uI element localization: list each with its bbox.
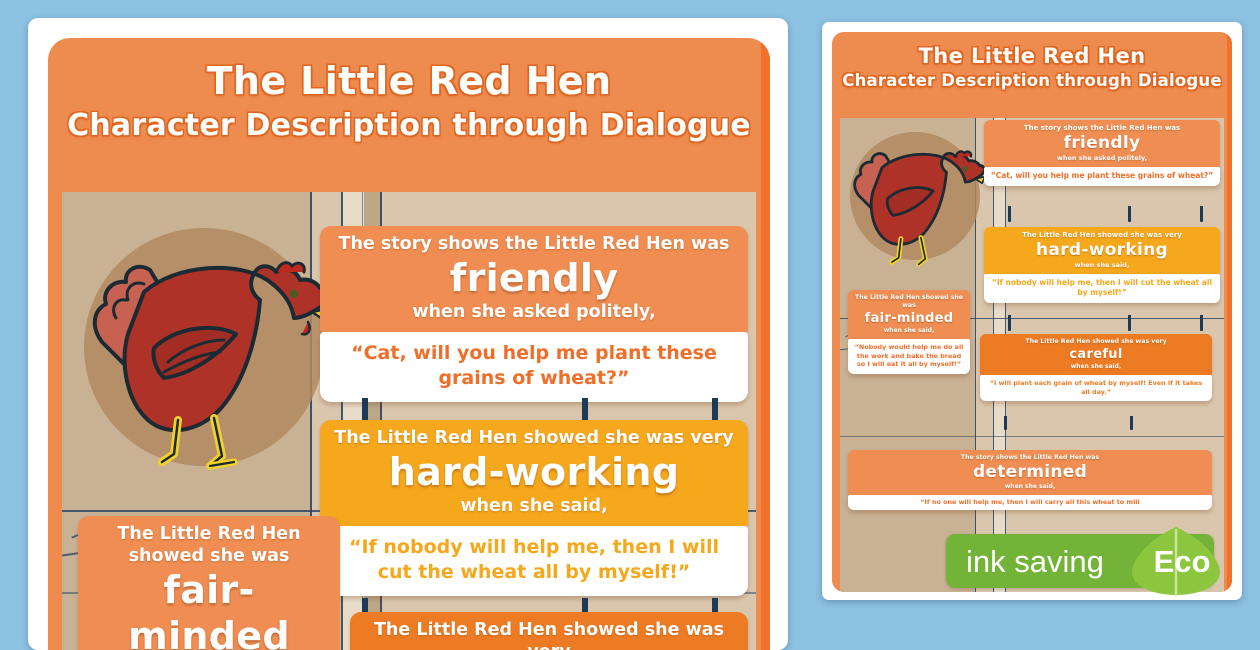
trait-when: when she said, <box>330 495 738 518</box>
trait-lead: The story shows the Little Red Hen was <box>989 124 1215 133</box>
trait-card-head: The Little Red Hen showed she was very c… <box>980 334 1212 375</box>
thumb-trait-card-determined[interactable]: The story shows the Little Red Hen was d… <box>848 450 1212 510</box>
thumbnail-poster-sheet[interactable]: The Little Red Hen Character Description… <box>822 22 1242 600</box>
trait-when: when she asked politely, <box>989 154 1215 163</box>
trait-word: determined <box>853 462 1207 483</box>
sign-post <box>1004 416 1007 430</box>
eco-word: Eco <box>1146 546 1218 578</box>
poster-title-block: The Little Red Hen Character Description… <box>48 38 770 146</box>
thumb-trait-card-careful[interactable]: The Little Red Hen showed she was very c… <box>980 334 1212 401</box>
little-red-hen-illustration <box>842 128 992 274</box>
trait-quote: “Cat, will you help me plant these grain… <box>984 167 1220 186</box>
trait-card-friendly[interactable]: The story shows the Little Red Hen was f… <box>320 226 748 402</box>
screenshot-stage: The Little Red Hen Character Description… <box>0 0 1260 630</box>
eco-label: ink saving <box>966 546 1166 578</box>
trait-card-head: The Little Red Hen showed she was very h… <box>320 420 748 526</box>
trait-when: when she asked politely, <box>330 301 738 324</box>
sign-post <box>1200 315 1203 331</box>
thumb-right-edge <box>1227 32 1232 592</box>
thumbnail-poster: The Little Red Hen Character Description… <box>832 32 1232 592</box>
trait-word: hard-working <box>330 449 738 495</box>
poster-title-line2: Character Description through Dialogue <box>48 104 770 146</box>
trait-card-head: The story shows the Little Red Hen was f… <box>984 120 1220 167</box>
floor-line <box>840 436 1224 437</box>
trait-lead: The Little Red Hen showed she was <box>853 294 965 310</box>
trait-when: when she said, <box>985 363 1207 371</box>
little-red-hen-illustration <box>72 222 342 482</box>
trait-when: when she said, <box>853 483 1207 491</box>
trait-lead: The Little Red Hen showed she was <box>88 523 330 567</box>
trait-quote: “If no one will help me, then I will car… <box>848 495 1212 510</box>
trait-lead: The story shows the Little Red Hen was <box>853 454 1207 462</box>
thumb-trait-card-friendly[interactable]: The story shows the Little Red Hen was f… <box>984 120 1220 186</box>
trait-card-head: The story shows the Little Red Hen was f… <box>320 226 748 332</box>
trait-word: fair-minded <box>853 310 965 327</box>
thumb-title-line1: The Little Red Hen <box>832 32 1232 69</box>
trait-word: friendly <box>330 255 738 301</box>
sign-post <box>1130 416 1133 430</box>
trait-lead: The Little Red Hen showed she was very <box>989 231 1215 240</box>
trait-quote: “Nobody would help me do all the work an… <box>848 339 970 374</box>
ink-saving-eco-badge: ink saving Eco <box>946 526 1234 596</box>
trait-quote: “I will plant each grain of wheat by mys… <box>980 375 1212 401</box>
trait-when: when she said, <box>853 327 965 335</box>
trait-card-head: The Little Red Hen showed she was very c… <box>350 612 748 650</box>
poster-title-line1: The Little Red Hen <box>48 38 770 104</box>
sign-post <box>1128 315 1131 331</box>
sign-post <box>1008 315 1011 331</box>
main-poster-sheet: The Little Red Hen Character Description… <box>28 18 788 650</box>
trait-word: careful <box>985 346 1207 363</box>
trait-card-head: The Little Red Hen showed she was fair-m… <box>848 290 970 339</box>
trait-card-head: The story shows the Little Red Hen was d… <box>848 450 1212 495</box>
poster-right-edge <box>761 38 770 650</box>
trait-card-head: The Little Red Hen showed she was very h… <box>984 227 1220 274</box>
main-poster: The Little Red Hen Character Description… <box>48 38 770 650</box>
trait-lead: The story shows the Little Red Hen was <box>330 233 738 255</box>
trait-quote: “If nobody will help me, then I will cut… <box>320 526 748 596</box>
trait-card-careful[interactable]: The Little Red Hen showed she was very c… <box>350 612 748 650</box>
trait-word: friendly <box>989 133 1215 154</box>
thumb-trait-card-fair-minded[interactable]: The Little Red Hen showed she was fair-m… <box>848 290 970 374</box>
trait-quote: “Cat, will you help me plant these grain… <box>320 332 748 402</box>
sign-post <box>1200 206 1203 222</box>
thumb-title-block: The Little Red Hen Character Description… <box>832 32 1232 92</box>
thumb-trait-card-hard-working[interactable]: The Little Red Hen showed she was very h… <box>984 227 1220 303</box>
trait-word: fair-minded <box>88 567 330 650</box>
trait-when: when she said, <box>989 261 1215 270</box>
trait-word: hard-working <box>989 240 1215 261</box>
trait-lead: The Little Red Hen showed she was very <box>985 338 1207 346</box>
trait-lead: The Little Red Hen showed she was very <box>360 619 738 650</box>
trait-quote: “If nobody will help me, then I will cut… <box>984 274 1220 303</box>
sign-post <box>1128 206 1131 222</box>
trait-lead: The Little Red Hen showed she was very <box>330 427 738 449</box>
sign-post <box>1008 206 1011 222</box>
trait-card-hard-working[interactable]: The Little Red Hen showed she was very h… <box>320 420 748 596</box>
thumb-title-line2: Character Description through Dialogue <box>832 69 1232 92</box>
